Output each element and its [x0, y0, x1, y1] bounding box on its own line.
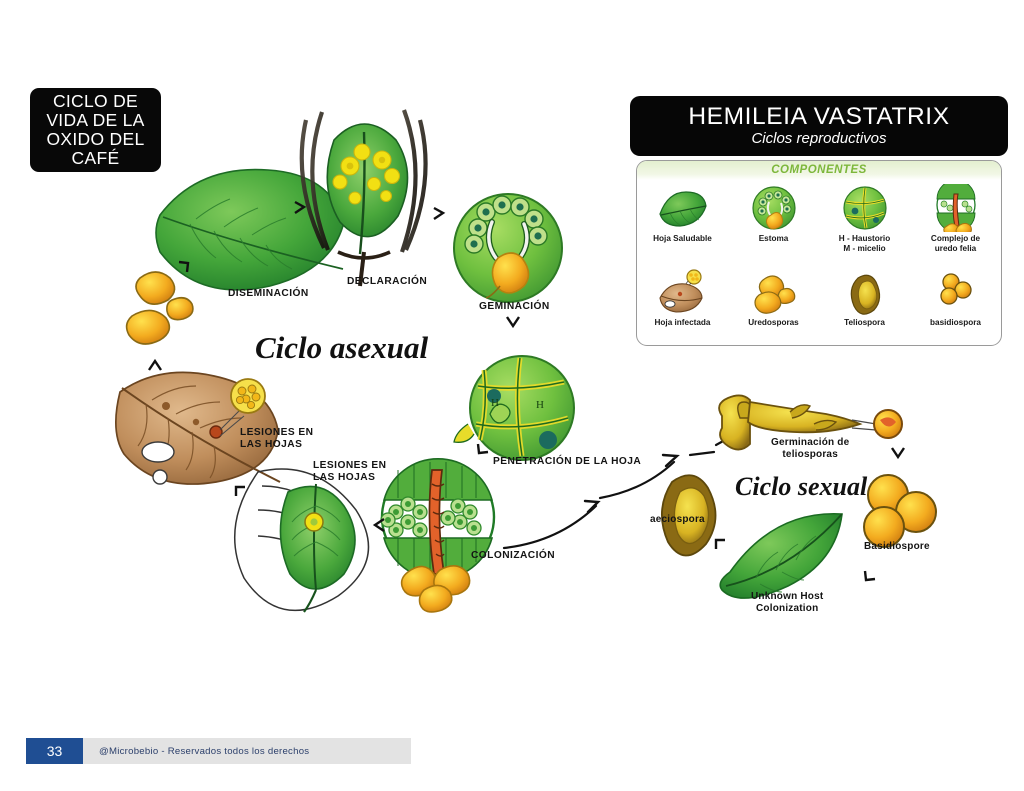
penetration-circle-art: H H [454, 356, 574, 460]
legend-header: HEMILEIA VASTATRIX Ciclos reproductivos [630, 96, 1008, 156]
chevron-right-icon-2 [291, 199, 309, 217]
basidiospore-art [864, 475, 936, 547]
stage-label-colonizacion: COLONIZACIÓN [471, 550, 555, 562]
asexual-cycle-heading: Ciclo asexual [255, 330, 428, 366]
uredospores-art [127, 272, 193, 344]
chevron-down-right-icon-1 [889, 444, 907, 462]
legend-item-label: Teliospora [844, 318, 885, 328]
stage-label-lesiones-en-las-hojas-2: LESIONES EN LAS HOJAS [313, 460, 386, 484]
lesion-leaf-art [235, 469, 369, 612]
circle-stoma-icon [747, 184, 801, 232]
circle-sorus-icon [929, 184, 983, 232]
chevron-right-icon-3 [430, 205, 448, 223]
spore-triple-icon [929, 268, 983, 316]
legend-grid: Hoja Saludable [637, 180, 1001, 346]
page-title: CICLO DE VIDA DE LA OXIDO DEL CAFÉ [30, 88, 161, 172]
legend-item-hoja-saludable: Hoja Saludable [637, 180, 728, 264]
slide-canvas: H H [0, 0, 1024, 791]
chevron-down-icon-1 [504, 313, 522, 331]
legend-item-estoma: Estoma [728, 180, 819, 264]
unknown-host-leaf-art [720, 514, 842, 598]
chevron-up-left-icon-1 [232, 482, 250, 500]
stage-label-declaracion: DECLARACIÓN [347, 276, 427, 288]
circle-haustorium-icon [838, 184, 892, 232]
legend-title: HEMILEIA VASTATRIX [630, 103, 1008, 130]
sexual-cycle-heading: Ciclo sexual [735, 472, 867, 502]
svg-text:H: H [536, 399, 544, 411]
stage-label-aeciospora: aeciospora [650, 514, 705, 526]
chevron-right-icon-1 [175, 258, 193, 276]
legend-item-teliospora: Teliospora [819, 264, 910, 347]
legend-subtitle: Ciclos reproductivos [630, 130, 1008, 148]
chevron-down-left-icon-1 [474, 440, 492, 458]
stage-label-unknown-host-colonization: Unknown Host Colonization [751, 591, 823, 615]
footer-bar: 33 @Microbebio - Reservados todos los de… [26, 738, 411, 764]
chevron-down-left-icon-2 [861, 567, 879, 585]
legend-item-label: basidiospora [930, 318, 981, 328]
leaf-green-icon [656, 184, 710, 232]
legend-item-hoja-infectada: Hoja infectada [637, 264, 728, 347]
legend-body: COMPONENTES Hoja Saludable [636, 160, 1002, 346]
colonization-circle-art [381, 459, 494, 612]
germination-circle-art [454, 194, 562, 302]
legend-item-label: Estoma [759, 234, 789, 244]
chevron-up-left-icon-2 [712, 535, 730, 553]
leaf-brown-icon [656, 268, 710, 316]
legend-item-label: Complejo de uredo felia [931, 234, 980, 253]
chevron-left-icon-1 [370, 516, 388, 534]
svg-text:H: H [491, 397, 499, 409]
legend-item-uredosporas: Uredosporas [728, 264, 819, 347]
spore-oval-icon [838, 268, 892, 316]
page-number: 33 [26, 738, 83, 764]
stage-label-penetracion-de-la-hoja: PENETRACIÓN DE LA HOJA [493, 456, 641, 468]
legend-item-haustorio-micelio: H - Haustorio M - micelio [819, 180, 910, 264]
footer-credit: @Microbebio - Reservados todos los derec… [99, 738, 309, 764]
chevron-up-icon-1 [146, 357, 164, 375]
legend-band-label: COMPONENTES [637, 161, 1001, 180]
stage-label-germinacion-de-teliosporas: Germinación de teliosporas [771, 437, 849, 461]
legend-item-label: Uredosporas [748, 318, 799, 328]
legend-panel: HEMILEIA VASTATRIX Ciclos reproductivos … [630, 96, 1008, 348]
stage-label-basidiospore: Basidiospore [864, 541, 930, 553]
stage-label-geminacion: GEMINACIÓN [479, 301, 550, 313]
legend-item-complejo-uredo-felia: Complejo de uredo felia [910, 180, 1001, 264]
stage-label-lesiones-en-las-hojas-1: LESIONES EN LAS HOJAS [240, 427, 313, 451]
legend-item-label: Hoja Saludable [653, 234, 712, 244]
legend-item-label: H - Haustorio M - micelio [839, 234, 890, 253]
stage-label-diseminacion: DISEMINACIÓN [228, 288, 309, 300]
legend-item-basidiospora: basidiospora [910, 264, 1001, 347]
spore-cluster-icon [747, 268, 801, 316]
legend-item-label: Hoja infectada [655, 318, 711, 328]
